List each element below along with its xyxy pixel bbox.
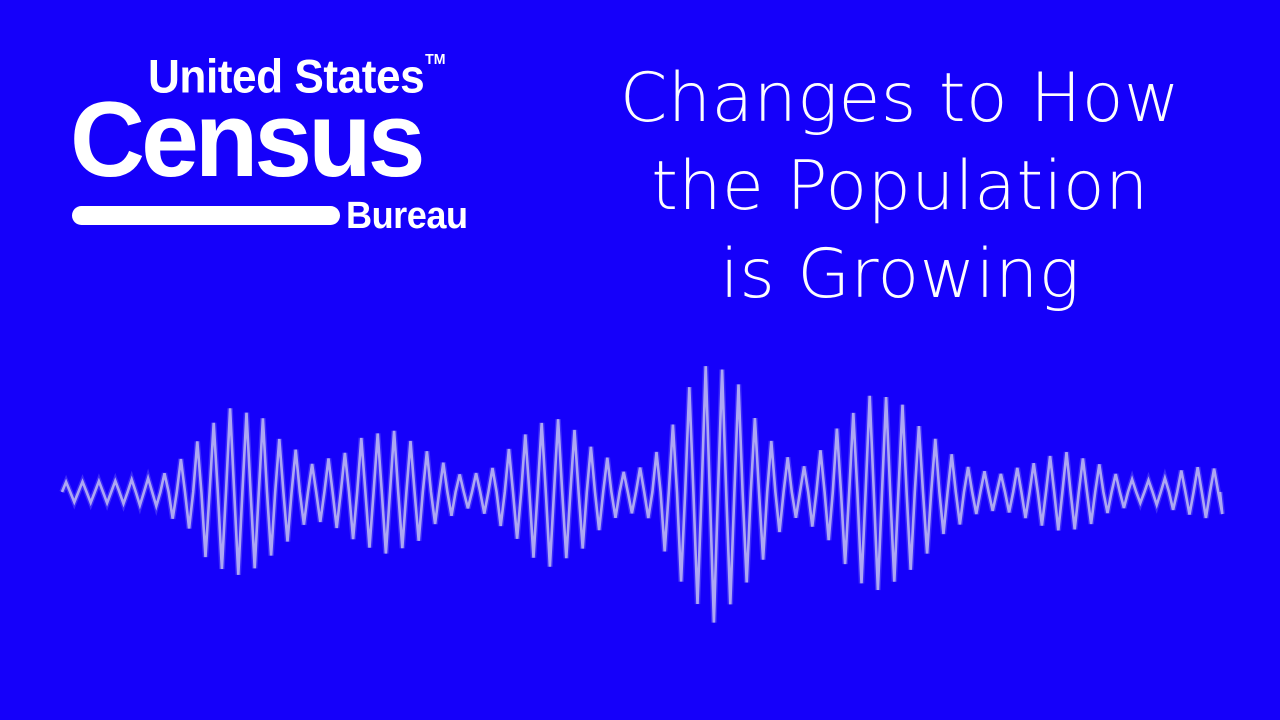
title-line-2: the Population [580,143,1220,231]
page-title: Changes to How the Population is Growing [580,55,1220,319]
title-line-1: Changes to How [580,55,1220,143]
waveform-line [62,366,1222,622]
title-line-3: is Growing [580,231,1220,319]
waveform-glow [62,366,1222,622]
logo-census-wordmark: Census [70,86,422,193]
trademark-icon: TM [425,51,445,68]
logo-bureau-label: Bureau [346,197,468,235]
us-census-bureau-logo: United StatesTM Census Bureau [70,48,500,240]
logo-rule-bar [72,206,340,225]
title-card: United StatesTM Census Bureau Changes to… [0,0,1280,720]
